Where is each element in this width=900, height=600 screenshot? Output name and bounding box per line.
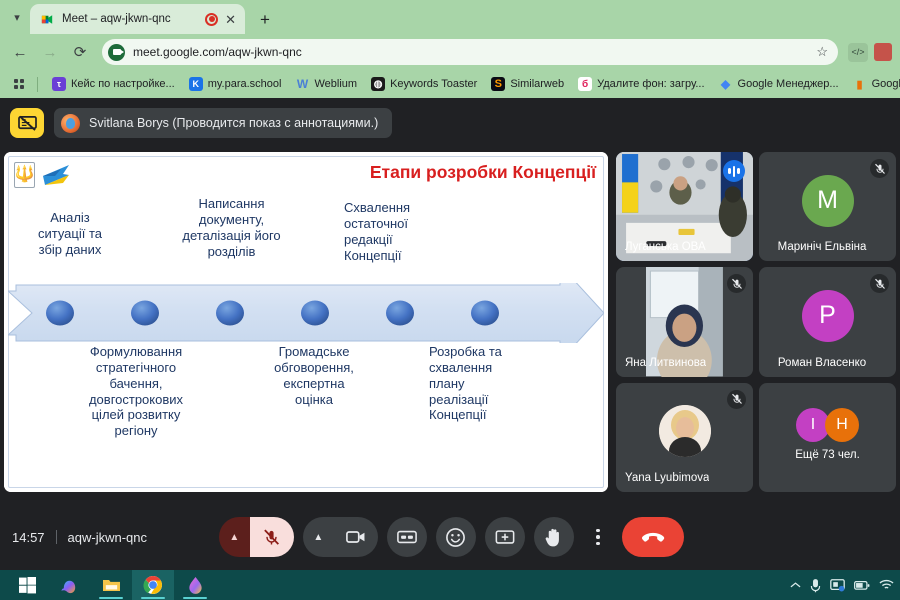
avatar: M xyxy=(802,175,854,227)
bookmark-favicon-icon: ◍ xyxy=(371,77,385,91)
tab-strip: ▾ Meet – aqw-jkwn-qnc ✕ + xyxy=(0,0,900,34)
bookmark-label: Similarweb xyxy=(510,78,564,90)
ukraine-trident-icon: 🔱 xyxy=(14,162,35,188)
start-button[interactable] xyxy=(6,570,48,600)
divider xyxy=(56,530,57,544)
participant-tile-luganska-ova[interactable]: Луганська ОВА xyxy=(616,152,753,261)
process-arrow xyxy=(8,283,604,343)
browser-toolbar: ← → ⟳ meet.google.com/aqw-jkwn-qnc ☆ </> xyxy=(0,34,900,70)
tab-title: Meet – aqw-jkwn-qnc xyxy=(62,13,198,25)
bookmark-item[interactable]: ◍ Keywords Toaster xyxy=(364,77,484,91)
bookmark-label: Keywords Toaster xyxy=(390,78,477,90)
end-call-button[interactable] xyxy=(622,517,684,557)
bookmarks-bar: τ Кейс по настройке... K my.para.school … xyxy=(0,70,900,98)
forward-icon[interactable]: → xyxy=(38,40,62,64)
stage-label-bottom-1: Формулюваннястратегічногобачення, довгос… xyxy=(66,344,206,439)
slide-emblem: 🔱 xyxy=(14,162,71,188)
bookmark-favicon-icon: K xyxy=(189,77,203,91)
profile-avatar[interactable] xyxy=(874,43,892,61)
bookmark-item[interactable]: ◆ Google Менеджер... xyxy=(712,77,846,91)
bookmark-label: Удалите фон: загру... xyxy=(597,78,704,90)
participant-grid: Луганська ОВА M Маринiч Ельвiна xyxy=(616,152,896,492)
address-bar[interactable]: meet.google.com/aqw-jkwn-qnc ☆ xyxy=(102,39,838,65)
chevron-up-icon[interactable]: ▲ xyxy=(303,517,334,557)
presentation-stage[interactable]: 🔱 Етапи розробки Концепції Аналізситуаці… xyxy=(4,152,608,492)
camera-icon[interactable] xyxy=(334,517,378,557)
apps-grid-icon[interactable] xyxy=(8,79,30,89)
participant-tile-yana-lytvynova[interactable]: Яна Литвинова xyxy=(616,267,753,376)
avatar: P xyxy=(802,290,854,342)
avatar xyxy=(659,405,711,457)
tab-search-chevron-icon[interactable]: ▾ xyxy=(4,0,30,34)
record-dot-icon[interactable] xyxy=(205,13,218,26)
bookmark-item[interactable]: б Удалите фон: загру... xyxy=(571,77,711,91)
camera-button[interactable]: ▲ xyxy=(303,517,378,557)
bookmark-item[interactable]: K my.para.school xyxy=(182,77,289,91)
mic-off-icon xyxy=(727,390,746,409)
participant-name: Яна Литвинова xyxy=(625,357,706,369)
battery-icon[interactable] xyxy=(854,580,870,591)
active-speaker-icon xyxy=(723,160,745,182)
screen: ▾ Meet – aqw-jkwn-qnc ✕ + ← xyxy=(0,0,900,600)
overflow-avatars: I H xyxy=(796,408,859,442)
participant-name: Yana Lyubimova xyxy=(625,472,709,484)
bookmark-favicon-icon: ▮ xyxy=(853,77,867,91)
close-icon[interactable]: ✕ xyxy=(225,13,236,26)
back-icon[interactable]: ← xyxy=(8,40,32,64)
bookmark-item[interactable]: ▮ Google Аналитика xyxy=(846,77,900,91)
bookmark-label: Google Менеджер... xyxy=(738,78,839,90)
participant-tile-marinich-elvina[interactable]: M Маринiч Ельвiна xyxy=(759,152,896,261)
address-bar-url: meet.google.com/aqw-jkwn-qnc xyxy=(133,45,808,59)
mic-off-icon xyxy=(870,159,889,178)
chevron-up-icon[interactable]: ▲ xyxy=(219,517,250,557)
participant-name: Маринiч Ельвiна xyxy=(759,241,885,253)
bookmark-favicon-icon: W xyxy=(295,77,309,91)
bookmark-favicon-icon: б xyxy=(578,77,592,91)
bookmark-label: Google Аналитика xyxy=(872,78,900,90)
stage-label-top-2: Написаннядокументу,деталізація йогорозді… xyxy=(144,196,319,259)
windows-taskbar xyxy=(0,570,900,600)
presenter-banner-text: Svitlana Borys (Проводится показ с аннот… xyxy=(89,116,378,130)
copilot-button[interactable] xyxy=(48,570,90,600)
more-options-button[interactable] xyxy=(583,517,613,557)
stage-label-bottom-2: Громадськеобговорення,експертнаоцінка xyxy=(249,344,379,407)
stage-label-bottom-3: Розробка тасхваленняплануреалізаціїКонце… xyxy=(429,344,544,423)
file-explorer-button[interactable] xyxy=(90,570,132,600)
presenter-banner: Svitlana Borys (Проводится показ с аннот… xyxy=(54,108,392,138)
avatar: H xyxy=(825,408,859,442)
participant-name: Луганська ОВА xyxy=(625,241,706,253)
bookmark-favicon-icon: ◆ xyxy=(719,77,733,91)
raise-hand-button[interactable] xyxy=(534,517,574,557)
mic-off-icon xyxy=(870,274,889,293)
meet-control-bar: 14:57 aqw-jkwn-qnc ▲ xyxy=(0,504,900,570)
participant-tile-overflow[interactable]: I H Ещё 73 чел. xyxy=(759,383,896,492)
bookmark-favicon-icon: τ xyxy=(52,77,66,91)
bookmark-favicon-icon: S xyxy=(491,77,505,91)
meeting-time: 14:57 xyxy=(12,530,45,545)
new-tab-button[interactable]: + xyxy=(251,6,279,34)
captions-button[interactable] xyxy=(387,517,427,557)
meeting-code: aqw-jkwn-qnc xyxy=(68,530,147,545)
browser-chrome: ▾ Meet – aqw-jkwn-qnc ✕ + ← xyxy=(0,0,900,98)
mic-off-icon[interactable] xyxy=(250,517,294,557)
chrome-button[interactable] xyxy=(132,570,174,600)
bookmark-item[interactable]: S Similarweb xyxy=(484,77,571,91)
wifi-icon[interactable] xyxy=(879,579,894,591)
paint-button[interactable] xyxy=(174,570,216,600)
extension-code-icon[interactable]: </> xyxy=(848,43,868,62)
divider xyxy=(37,77,38,92)
bookmark-label: my.para.school xyxy=(208,78,282,90)
microphone-muted-button[interactable]: ▲ xyxy=(219,517,294,557)
bookmark-label: Кейс по настройке... xyxy=(71,78,175,90)
ukraine-flag-ribbon-icon xyxy=(41,164,71,186)
bookmark-item[interactable]: τ Кейс по настройке... xyxy=(45,77,182,91)
microphone-icon[interactable] xyxy=(810,578,821,593)
participant-tile-roman-vlasenko[interactable]: P Роман Власенко xyxy=(759,267,896,376)
mic-off-icon xyxy=(727,274,746,293)
stop-presenting-icon[interactable] xyxy=(10,108,44,138)
reload-icon[interactable]: ⟳ xyxy=(68,40,92,64)
bookmark-label: Weblium xyxy=(314,78,357,90)
stage-label-top-1: Аналізситуації тазбір даних xyxy=(10,210,130,258)
stage-label-top-3: СхваленняостаточноїредакціїКонцепції xyxy=(344,200,464,263)
slide-title: Етапи розробки Концепції xyxy=(370,162,596,183)
present-now-button[interactable] xyxy=(485,517,525,557)
bookmark-item[interactable]: W Weblium xyxy=(288,77,364,91)
google-meet-app: Svitlana Borys (Проводится показ с аннот… xyxy=(0,100,900,570)
avatar xyxy=(61,114,80,133)
meet-site-icon xyxy=(108,44,125,61)
slide: 🔱 Етапи розробки Концепції Аналізситуаці… xyxy=(4,152,608,492)
participant-name: Ещё 73 чел. xyxy=(795,449,860,461)
screen-share-icon[interactable] xyxy=(830,579,845,592)
tab-meet[interactable]: Meet – aqw-jkwn-qnc ✕ xyxy=(30,4,245,34)
participant-name: Роман Власенко xyxy=(759,357,885,369)
meet-header: Svitlana Borys (Проводится показ с аннот… xyxy=(0,100,900,146)
reactions-button[interactable] xyxy=(436,517,476,557)
participant-tile-yana-lyubimova[interactable]: Yana Lyubimova xyxy=(616,383,753,492)
google-meet-favicon-icon xyxy=(40,12,55,27)
chevron-up-icon[interactable] xyxy=(790,581,801,589)
star-icon[interactable]: ☆ xyxy=(816,44,828,60)
